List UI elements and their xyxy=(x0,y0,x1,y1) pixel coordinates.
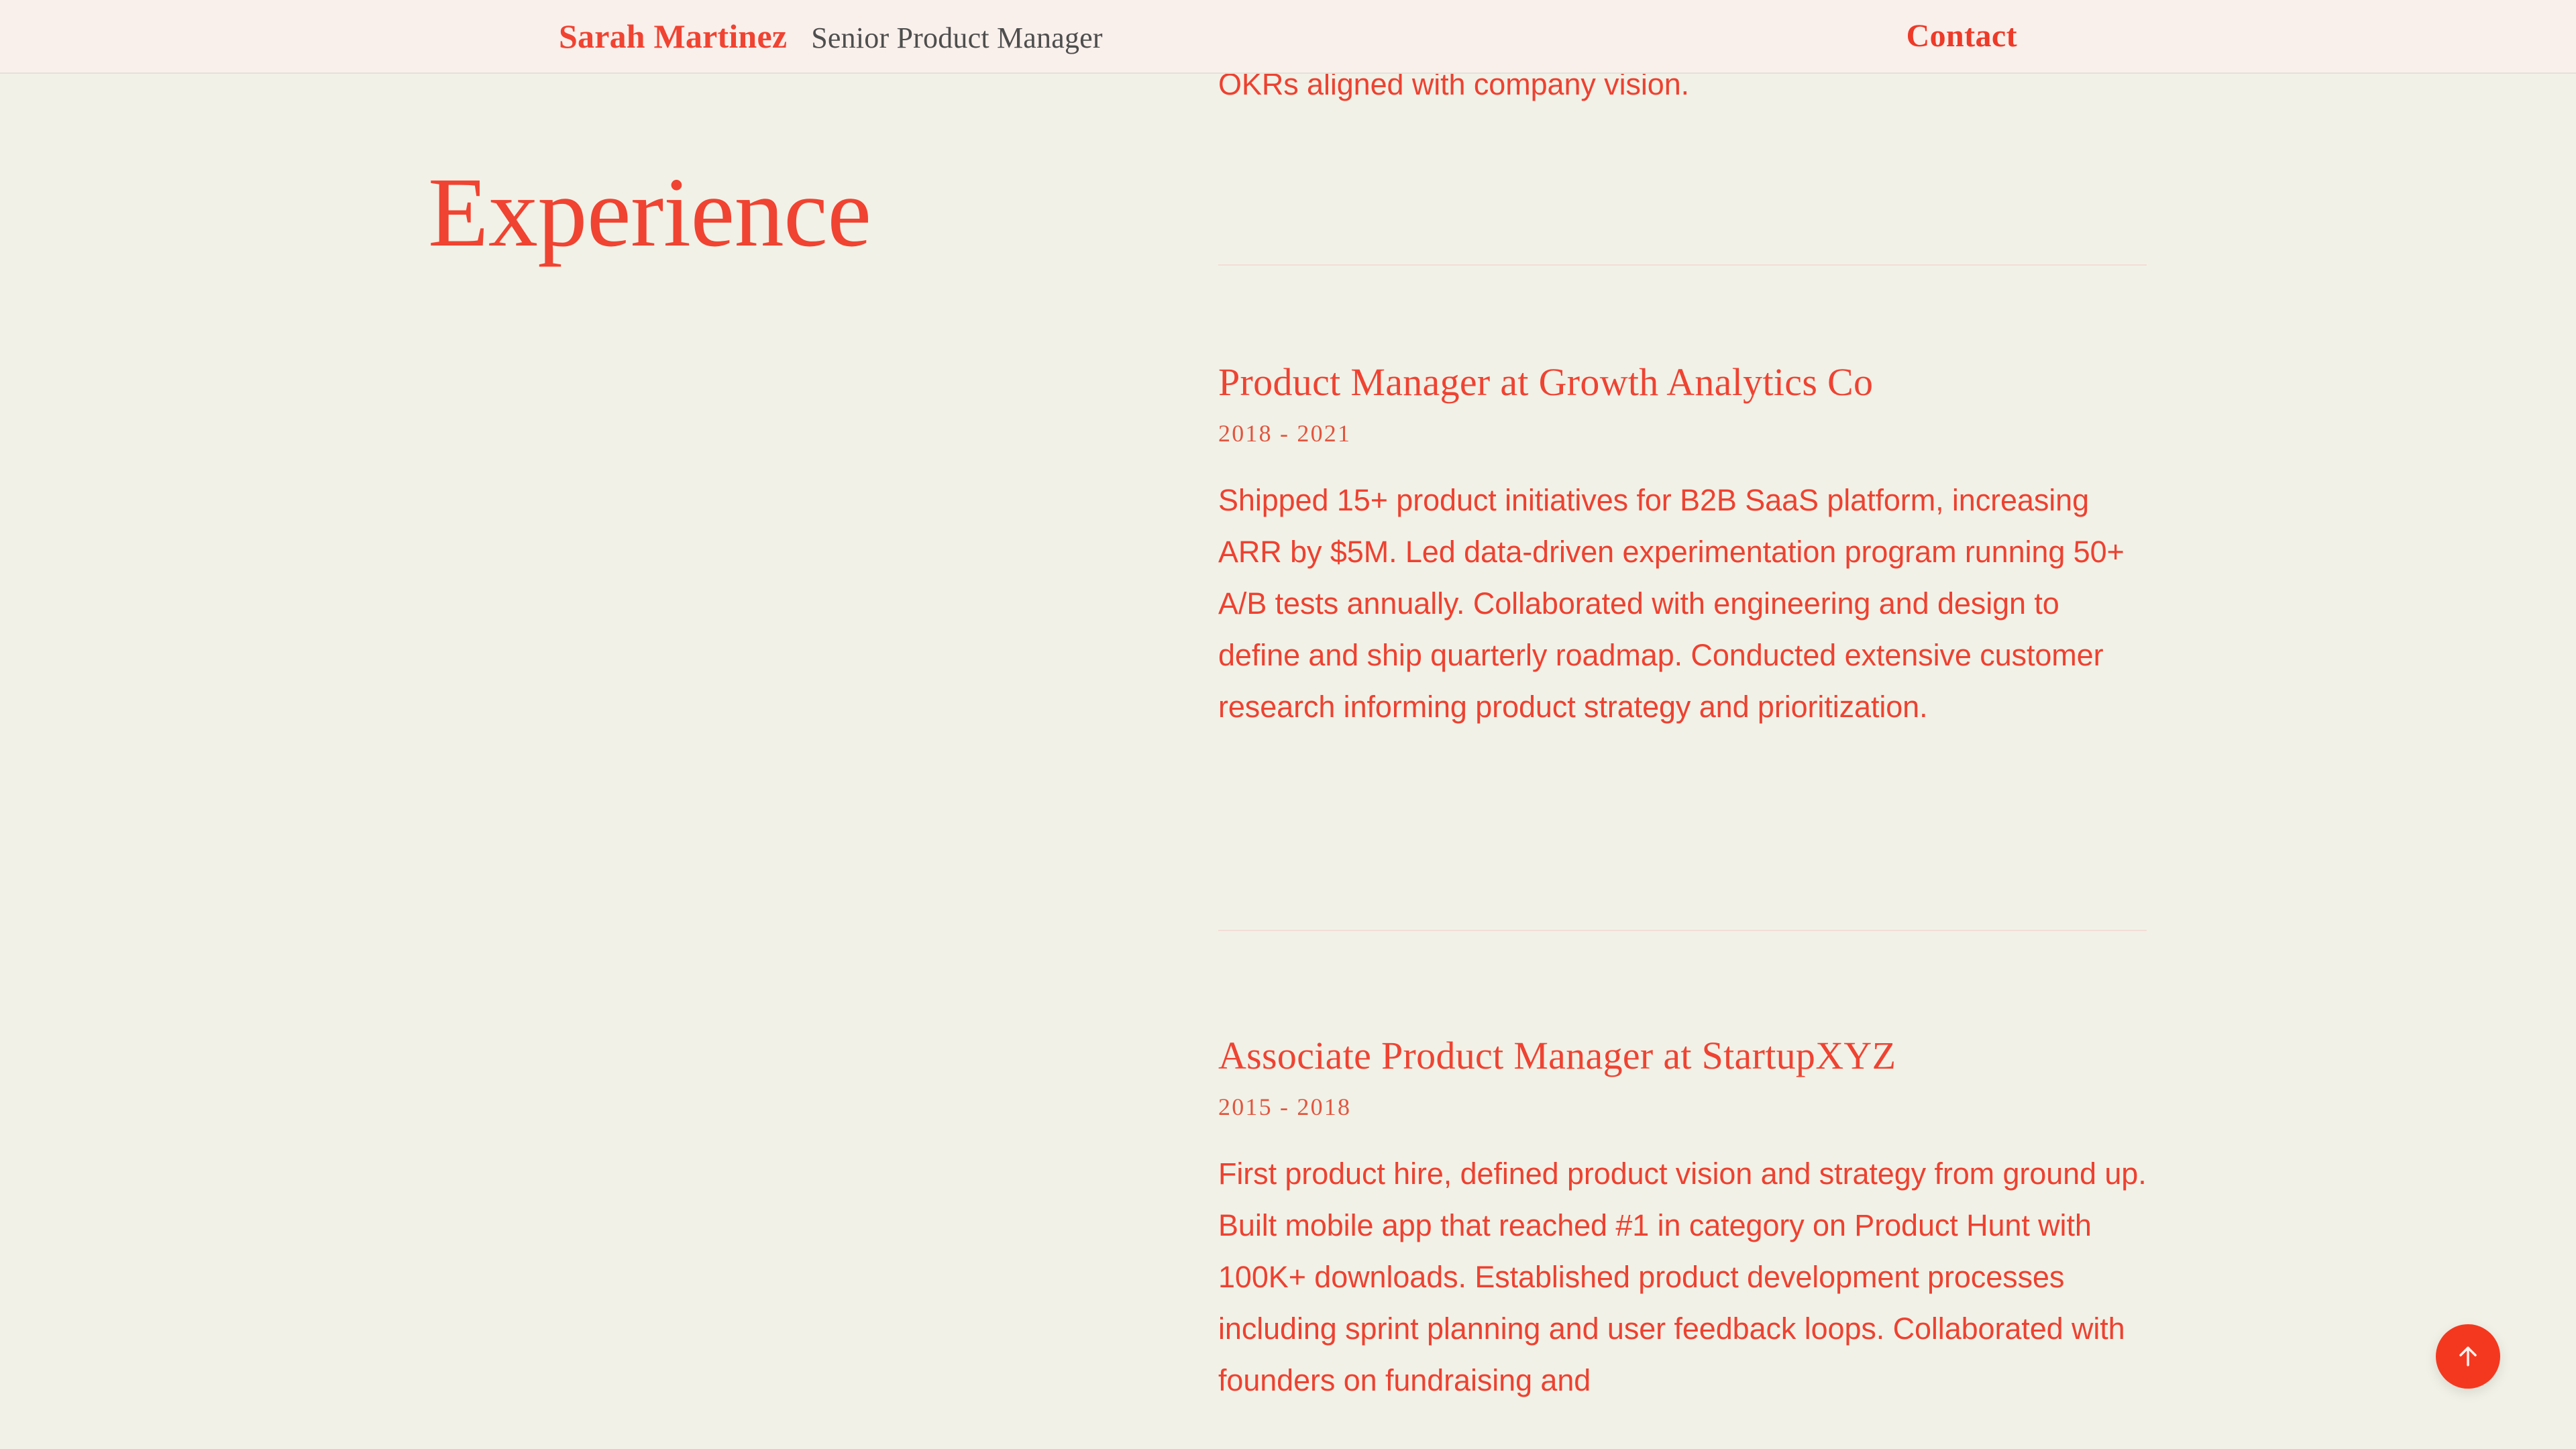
brand-role: Senior Product Manager xyxy=(811,23,1103,53)
entry-date-range: 2015 - 2018 xyxy=(1218,1093,2147,1121)
brand-name[interactable]: Sarah Martinez xyxy=(559,19,787,53)
experience-entry: Product Manager at Growth Analytics Co 2… xyxy=(1218,361,2147,733)
page-root: engineers, designers, and analysts. Defi… xyxy=(0,0,2576,1449)
entry-divider xyxy=(1218,264,2147,266)
brand-group[interactable]: Sarah Martinez Senior Product Manager xyxy=(559,19,1103,53)
arrow-up-icon xyxy=(2453,1342,2483,1371)
page-title: Experience xyxy=(428,163,871,262)
nav-link-contact[interactable]: Contact xyxy=(1907,20,2017,52)
entry-description: First product hire, defined product visi… xyxy=(1218,1148,2147,1406)
experience-entry: Associate Product Manager at StartupXYZ … xyxy=(1218,1034,2147,1406)
scroll-to-top-button[interactable] xyxy=(2436,1324,2500,1389)
entry-date-range: 2018 - 2021 xyxy=(1218,419,2147,447)
entry-description: Shipped 15+ product initiatives for B2B … xyxy=(1218,474,2147,733)
entry-divider xyxy=(1218,930,2147,931)
site-header: Sarah Martinez Senior Product Manager Co… xyxy=(0,0,2576,74)
entry-job-title: Associate Product Manager at StartupXYZ xyxy=(1218,1034,2147,1078)
entry-job-title: Product Manager at Growth Analytics Co xyxy=(1218,361,2147,405)
